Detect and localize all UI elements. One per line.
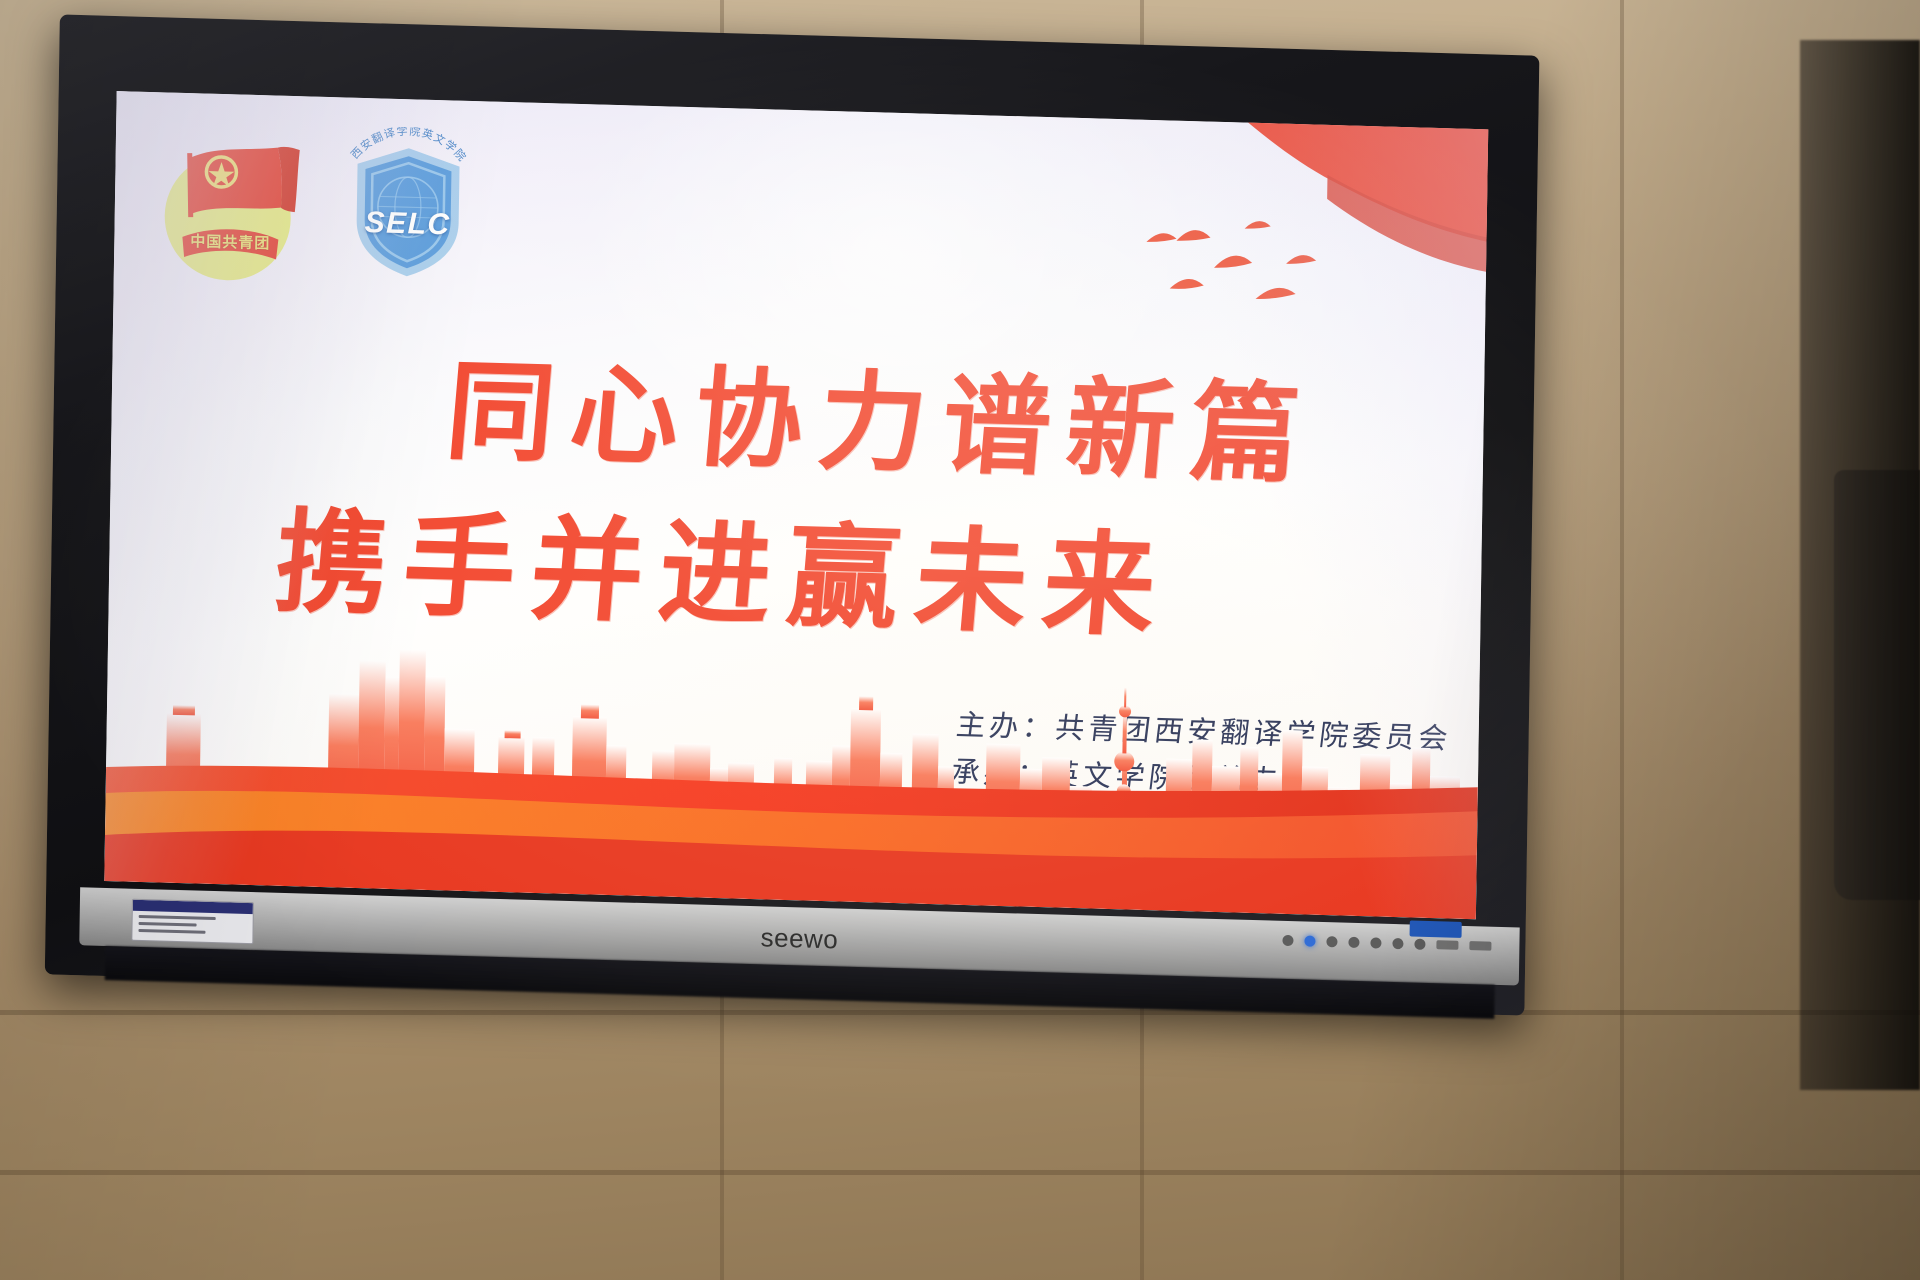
dark-side-object-secondary: [1834, 470, 1920, 900]
usb-port[interactable]: [1469, 941, 1491, 951]
communist-youth-league-emblem: 中国共青团: [154, 124, 316, 288]
device-control-panel[interactable]: [1282, 935, 1491, 952]
sticker-text-line: [139, 922, 197, 927]
device-label-sticker: [131, 899, 254, 944]
wall-seam: [0, 1170, 1920, 1175]
selc-school-logo: 西安翻译学院英文学院 SELC: [332, 125, 484, 289]
display-screen[interactable]: 中国共青团 西安翻译学院英文学院: [104, 91, 1488, 919]
indicator-dot[interactable]: [1370, 937, 1381, 948]
flying-birds-decoration: [1135, 206, 1367, 342]
display-bezel: 中国共青团 西安翻译学院英文学院: [45, 14, 1540, 1015]
wall-seam: [1620, 0, 1624, 1280]
port-label-badge: [1410, 920, 1462, 937]
sticker-text-line: [139, 915, 216, 920]
red-flag-icon: [185, 143, 304, 224]
selc-acronym-text: SELC: [332, 205, 482, 243]
indicator-dot[interactable]: [1348, 937, 1359, 948]
skyline-wave-decoration: [104, 591, 1480, 919]
indicator-dot[interactable]: [1392, 938, 1403, 949]
indicator-dot[interactable]: [1282, 935, 1293, 946]
interactive-display-unit: 中国共青团 西安翻译学院英文学院: [28, 6, 1543, 1048]
usb-port[interactable]: [1436, 940, 1458, 950]
presentation-slide: 中国共青团 西安翻译学院英文学院: [104, 91, 1488, 919]
emblem-banner-text: 中国共青团: [184, 229, 276, 258]
indicator-dot[interactable]: [1414, 939, 1425, 950]
power-indicator-dot[interactable]: [1304, 935, 1315, 946]
seewo-brand-logo: seewo: [760, 922, 838, 955]
sticker-text-line: [138, 929, 205, 934]
indicator-dot[interactable]: [1326, 936, 1337, 947]
room-background: 中国共青团 西安翻译学院英文学院: [0, 0, 1920, 1280]
sticker-header-strip: [133, 900, 253, 914]
